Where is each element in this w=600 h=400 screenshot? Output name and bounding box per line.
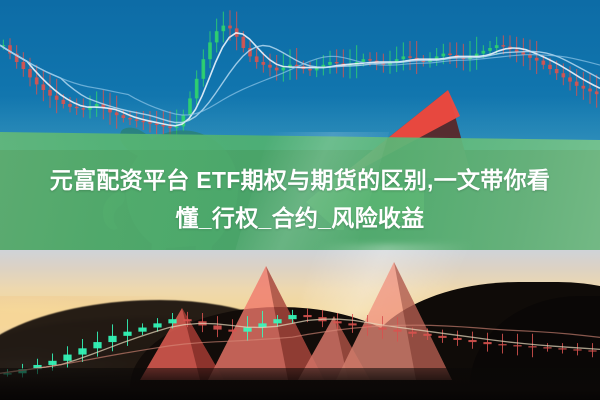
- banner-image: 元富配资平台 ETF期权与期货的区别,一文带你看 懂_行权_合约_风险收益: [0, 0, 600, 400]
- bottom-shadow: [0, 368, 600, 400]
- page-title: 元富配资平台 ETF期权与期货的区别,一文带你看 懂_行权_合约_风险收益: [0, 138, 600, 260]
- top-candlestick-chart: [0, 0, 600, 152]
- headline-line-1: 元富配资平台 ETF期权与期货的区别,一文带你看: [50, 163, 550, 197]
- headline-line-2: 懂_行权_合约_风险收益: [176, 201, 425, 235]
